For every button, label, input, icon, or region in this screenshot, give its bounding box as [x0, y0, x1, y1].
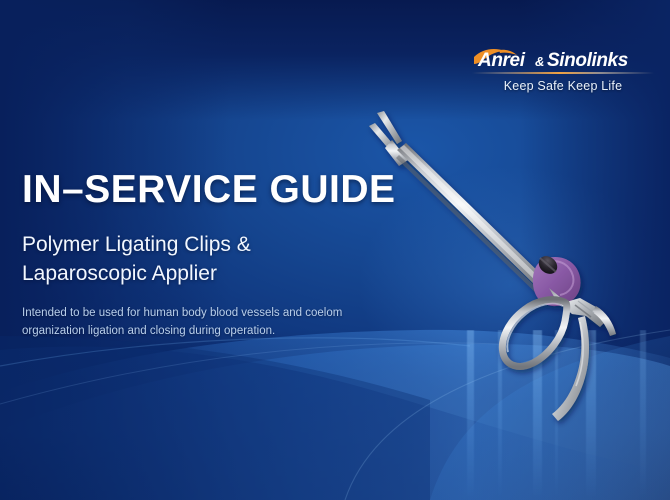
brand-wordmark: Anrei & Sinolinks: [472, 46, 654, 70]
page-description: Intended to be used for human body blood…: [22, 305, 422, 341]
background-light-streaks: [410, 330, 670, 500]
product-cover-slide: Anrei & Sinolinks Keep Safe Keep Life IN…: [0, 0, 670, 500]
svg-text:&: &: [535, 54, 544, 69]
page-subtitle: Polymer Ligating Clips & Laparoscopic Ap…: [22, 231, 422, 289]
brand-tagline: Keep Safe Keep Life: [472, 79, 654, 93]
subtitle-line-1: Polymer Ligating Clips &: [22, 231, 422, 260]
brand-divider-rule: [472, 72, 654, 74]
brand-wordmark-graphic: Anrei & Sinolinks: [472, 46, 654, 70]
description-line-2: organization ligation and closing during…: [22, 323, 422, 341]
page-title: IN–SERVICE GUIDE: [22, 170, 422, 211]
subtitle-line-2: Laparoscopic Applier: [22, 260, 422, 289]
svg-text:Sinolinks: Sinolinks: [547, 50, 628, 70]
brand-logo: Anrei & Sinolinks Keep Safe Keep Life: [472, 46, 654, 93]
svg-text:Anrei: Anrei: [477, 50, 526, 70]
hero-copy: IN–SERVICE GUIDE Polymer Ligating Clips …: [22, 170, 422, 341]
description-line-1: Intended to be used for human body blood…: [22, 305, 422, 323]
